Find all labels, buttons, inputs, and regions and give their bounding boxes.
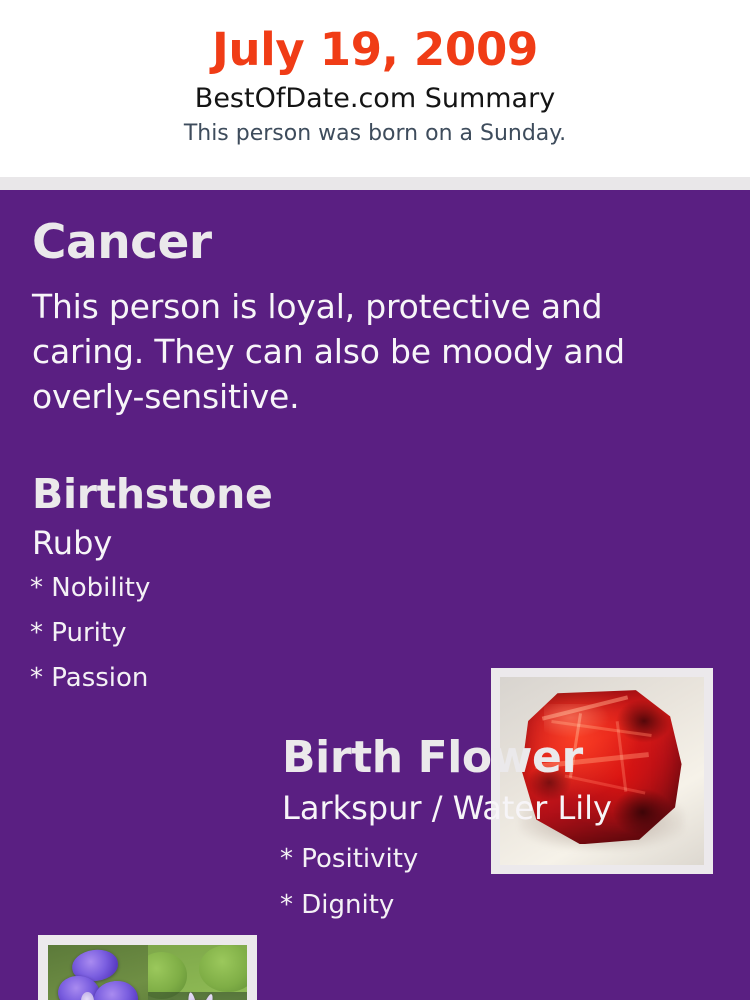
list-item: * Positivity	[280, 846, 418, 872]
larkspur-photo-half	[48, 945, 148, 1000]
birth-weekday-note: This person was born on a Sunday.	[184, 122, 566, 146]
zodiac-description: This person is loyal, protective and car…	[32, 285, 652, 420]
birth-flower-image	[38, 935, 257, 1000]
birth-flower-name: Larkspur / Water Lily	[282, 792, 612, 824]
site-subtitle: BestOfDate.com Summary	[195, 84, 555, 114]
lily-pad	[199, 945, 247, 992]
list-item: * Nobility	[30, 575, 150, 601]
waterlily-photo-half	[148, 945, 248, 1000]
list-item: * Purity	[30, 620, 150, 646]
larkspur-waterlily-photo	[48, 945, 247, 1000]
birthstone-heading: Birthstone	[32, 474, 272, 515]
header-divider	[0, 177, 750, 190]
birth-flower-trait-list: * Positivity * Dignity	[280, 846, 418, 938]
birthstone-name: Ruby	[32, 527, 112, 559]
pond-water	[148, 992, 248, 1000]
page-title: July 19, 2009	[212, 26, 538, 73]
birth-flower-heading: Birth Flower	[282, 736, 583, 780]
zodiac-sign-heading: Cancer	[32, 219, 212, 266]
list-item: * Passion	[30, 665, 150, 691]
details-panel: Cancer This person is loyal, protective …	[0, 190, 750, 1000]
header: July 19, 2009 BestOfDate.com Summary Thi…	[0, 0, 750, 177]
list-item: * Dignity	[280, 892, 418, 918]
summary-card: July 19, 2009 BestOfDate.com Summary Thi…	[0, 0, 750, 1000]
larkspur-blossom	[92, 979, 139, 1000]
birthstone-trait-list: * Nobility * Purity * Passion	[30, 575, 150, 710]
